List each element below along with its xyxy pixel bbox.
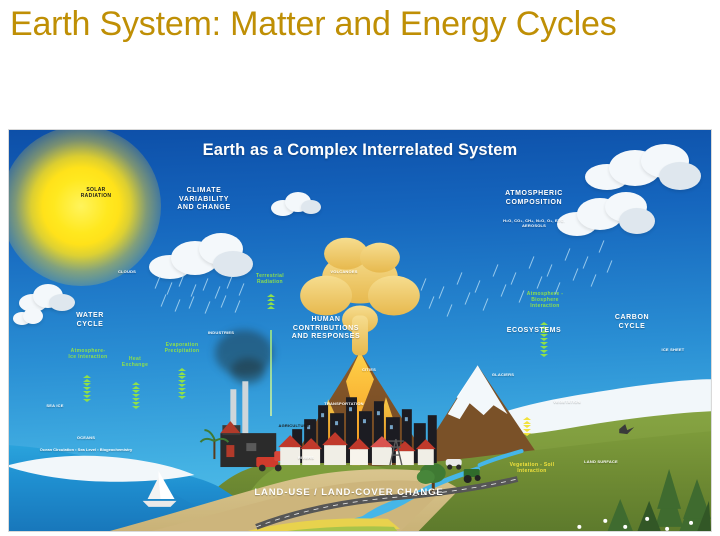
label-atmospheric-formula: H₂O, CO₂, CH₄, N₂O, O₃, ETC. AEROSOLS: [469, 219, 599, 229]
label-evaporation-precipitation: Evaporation Precipitation: [151, 342, 213, 354]
label-volcanoes: VOLCANOES: [315, 270, 373, 275]
label-vegetation: VEGETATION: [537, 400, 597, 405]
terrestrial-radiation-beam: [270, 330, 272, 416]
label-glaciers: GLACIERS: [477, 373, 529, 378]
label-ice-sheet: ICE SHEET: [647, 348, 699, 353]
label-sea-ice: SEA ICE: [31, 404, 79, 409]
label-carbon-cycle: CARBON CYCLE: [595, 314, 669, 331]
earth-system-diagram: Earth as a Complex Interrelated System S…: [8, 129, 712, 532]
label-water-cycle: WATER CYCLE: [55, 312, 125, 329]
label-vegetation-soil-interaction: Vegetation - Soil Interaction: [499, 462, 565, 474]
label-oceans-subtitle: Ocean Circulation • Sea Level • Biogeoch…: [11, 448, 161, 453]
label-heat-exchange: Heat Exchange: [113, 356, 157, 368]
label-rivers: RIVERS: [281, 456, 331, 461]
label-clouds: CLOUDS: [103, 270, 151, 275]
slide-root: Earth System: Matter and Energy Cycles: [0, 0, 720, 536]
label-solar-radiation: SOLAR RADIATION: [61, 187, 131, 199]
arrow-vegetation-soil: [522, 417, 532, 459]
figure-title: Earth as a Complex Interrelated System: [9, 141, 711, 160]
label-terrestrial-radiation: Terrestrial Radiation: [241, 273, 299, 285]
arrow-atmosphere-ice: [82, 375, 92, 429]
arrow-heat-exchange: [131, 382, 141, 436]
arrow-evaporation-precipitation: [177, 368, 187, 430]
label-atmospheric-composition: ATMOSPHERIC COMPOSITION: [479, 190, 589, 207]
label-atmosphere-ice-interaction: Atmosphere- Ice Interaction: [59, 348, 117, 360]
label-land-surface: LAND SURFACE: [567, 460, 635, 465]
label-ecosystems: ECOSYSTEMS: [493, 327, 575, 336]
page-title: Earth System: Matter and Energy Cycles: [10, 4, 700, 45]
label-oceans: OCEANS: [59, 436, 113, 441]
label-agriculture: AGRICULTURE: [264, 424, 324, 429]
label-land-use-change: LAND-USE / LAND-COVER CHANGE: [209, 487, 489, 499]
label-climate-variability: CLIMATE VARIABILITY AND CHANGE: [157, 187, 251, 213]
label-atmosphere-biosphere-interaction: Atmosphere - Biosphere Interaction: [513, 291, 577, 309]
label-industries: INDUSTRIES: [195, 331, 247, 336]
label-transportation: TRANSPORTATION: [309, 402, 379, 407]
label-human-contributions: HUMAN CONTRIBUTIONS AND RESPONSES: [273, 316, 379, 342]
label-cities: CITIES: [349, 368, 389, 373]
